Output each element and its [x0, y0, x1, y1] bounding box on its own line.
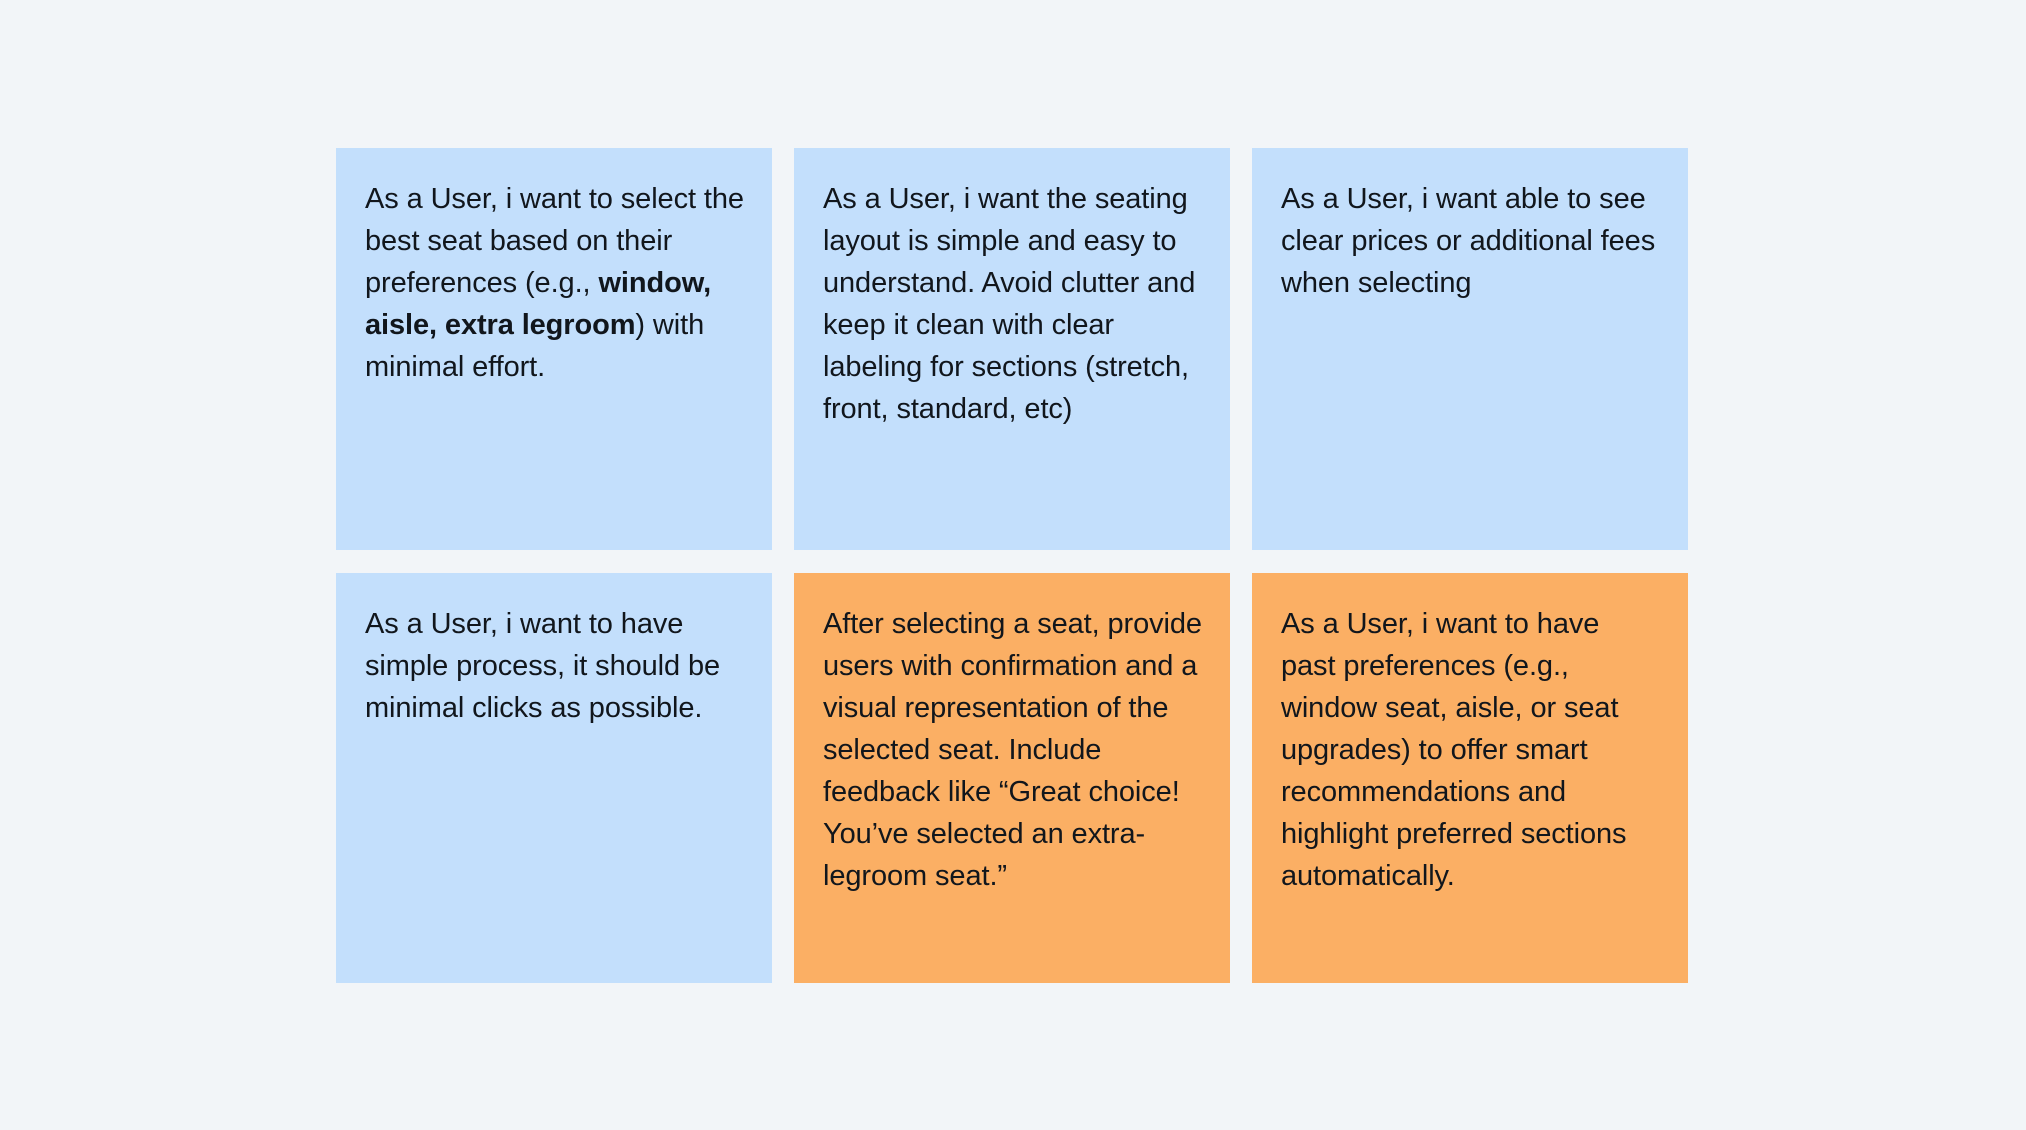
plain-text: As a User, i want to have simple process… — [365, 608, 728, 724]
sticky-note[interactable]: As a User, i want to select the best sea… — [336, 148, 772, 550]
sticky-note[interactable]: As a User, i want to have simple process… — [336, 573, 772, 983]
sticky-note-text: As a User, i want to have simple process… — [365, 603, 744, 729]
sticky-note[interactable]: As a User, i want the seating layout is … — [794, 148, 1230, 550]
sticky-note[interactable]: As a User, i want to have past preferenc… — [1252, 573, 1688, 983]
plain-text: As a User, i want to have past preferenc… — [1281, 608, 1634, 892]
sticky-note-text: After selecting a seat, provide users wi… — [823, 603, 1202, 897]
sticky-note-text: As a User, i want able to see clear pric… — [1281, 178, 1660, 304]
sticky-note-text: As a User, i want to have past preferenc… — [1281, 603, 1660, 897]
plain-text: As a User, i want the seating layout is … — [823, 183, 1203, 425]
sticky-note-text: As a User, i want the seating layout is … — [823, 178, 1202, 430]
sticky-note[interactable]: As a User, i want able to see clear pric… — [1252, 148, 1688, 550]
sticky-note-text: As a User, i want to select the best sea… — [365, 178, 744, 388]
sticky-note[interactable]: After selecting a seat, provide users wi… — [794, 573, 1230, 983]
plain-text: After selecting a seat, provide users wi… — [823, 608, 1210, 892]
sticky-note-board: As a User, i want to select the best sea… — [336, 148, 1688, 983]
plain-text: As a User, i want able to see clear pric… — [1281, 183, 1663, 299]
